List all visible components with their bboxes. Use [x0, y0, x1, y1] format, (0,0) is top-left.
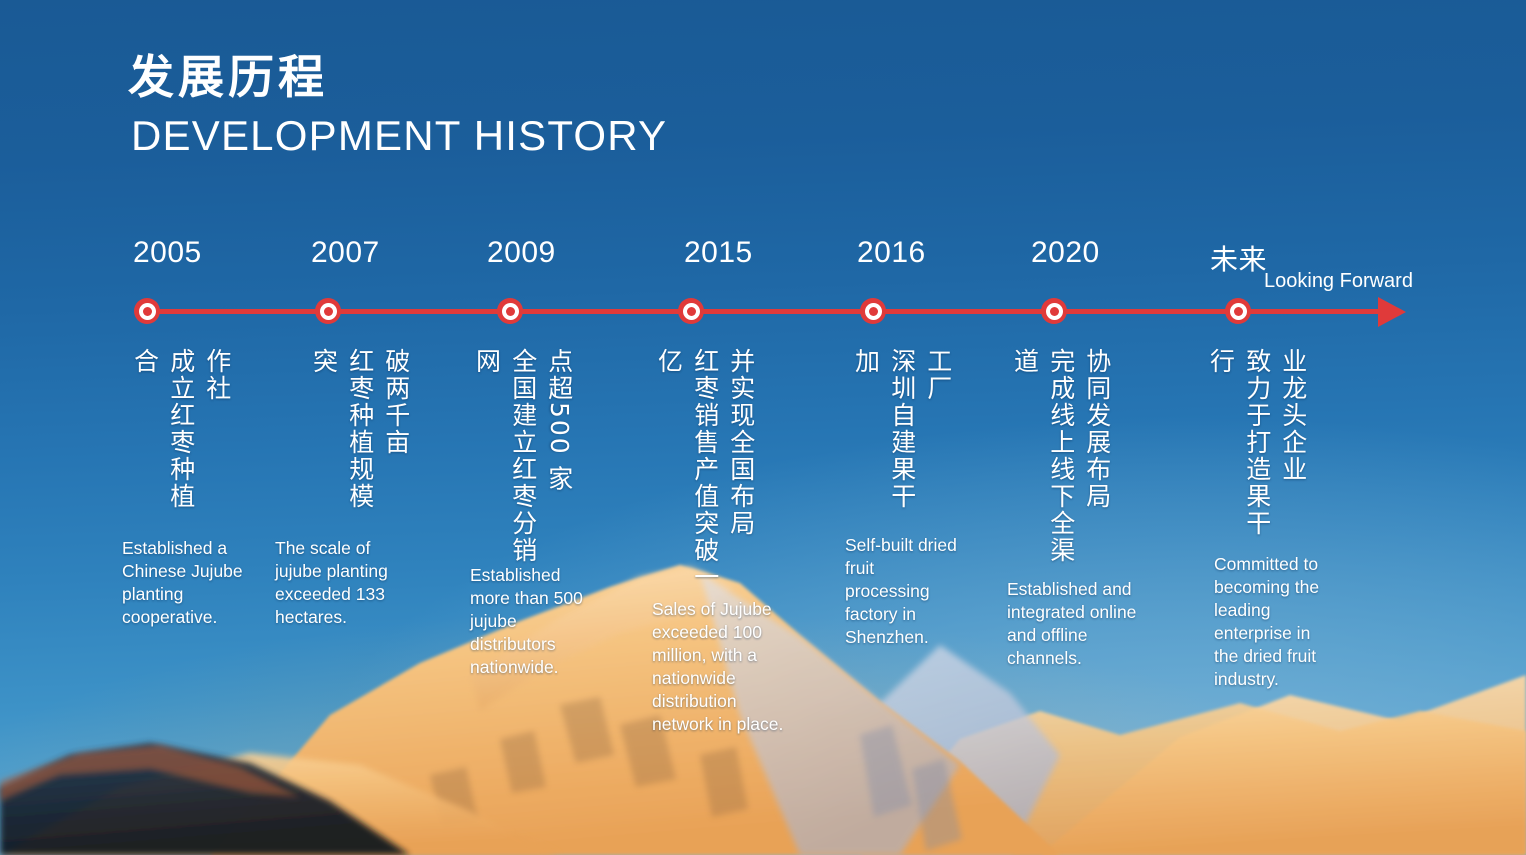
- timeline-node-2016[interactable]: [860, 298, 886, 324]
- timeline-node-future[interactable]: [1225, 298, 1251, 324]
- milestone-desc-2005: Established a Chinese Jujube planting co…: [122, 537, 247, 629]
- milestone-cn-2016: 深圳自建果干加 工厂: [847, 348, 956, 528]
- milestone-cn-col2-2015: 并实现全国布局: [723, 348, 759, 537]
- milestone-cn-col1-2015: 红枣销售产值突破一亿: [650, 348, 723, 594]
- timeline-node-2015[interactable]: [678, 298, 704, 324]
- timeline-node-2005[interactable]: [134, 298, 160, 324]
- milestone-cn-col1-2016: 深圳自建果干加: [847, 348, 920, 528]
- milestone-year-future-sub: Looking Forward: [1264, 270, 1413, 293]
- milestone-cn-2015: 红枣销售产值突破一亿 并实现全国布局: [650, 348, 759, 594]
- milestone-cn-col2-2016: 工厂: [920, 348, 956, 402]
- milestone-cn-col2-future: 业龙头企业: [1275, 348, 1311, 483]
- milestone-cn-2007: 红枣种植规模突 破两千亩: [305, 348, 414, 528]
- milestone-cn-col2-2009: 点超500 家: [541, 348, 577, 493]
- timeline-node-2020[interactable]: [1041, 298, 1067, 324]
- milestone-cn-col1-2009: 全国建立红枣分销网: [468, 348, 541, 566]
- milestone-desc-2016: Self-built dried fruit processing factor…: [845, 534, 960, 649]
- milestone-cn-2005: 成立红枣种植合 作社: [126, 348, 235, 528]
- milestone-year-2015: 2015: [684, 236, 753, 270]
- timeline-arrow-icon: [1378, 297, 1406, 327]
- milestone-year-2020: 2020: [1031, 236, 1100, 270]
- milestone-cn-2020: 完成线上线下全渠道 协同发展布局: [1006, 348, 1115, 566]
- milestone-desc-2009: Established more than 500 jujube distrib…: [470, 564, 596, 679]
- milestone-desc-2020: Established and integrated online and of…: [1007, 578, 1159, 670]
- slide-canvas: 发展历程 DEVELOPMENT HISTORY 2005 成立红枣种植合 作社…: [0, 0, 1526, 855]
- milestone-cn-future: 致力于打造果干行 业龙头企业: [1202, 348, 1311, 538]
- page-title-en: DEVELOPMENT HISTORY: [131, 110, 667, 163]
- milestone-year-2005: 2005: [133, 236, 202, 270]
- milestone-cn-2009: 全国建立红枣分销网 点超500 家: [468, 348, 577, 566]
- milestone-cn-col2-2007: 破两千亩: [378, 348, 414, 456]
- header: 发展历程 DEVELOPMENT HISTORY: [128, 52, 667, 162]
- milestone-cn-col1-2020: 完成线上线下全渠道: [1006, 348, 1079, 566]
- milestone-cn-col1-2005: 成立红枣种植合: [126, 348, 199, 528]
- timeline-node-2009[interactable]: [497, 298, 523, 324]
- milestone-year-2009: 2009: [487, 236, 556, 270]
- milestone-year-2007: 2007: [311, 236, 380, 270]
- milestone-desc-future: Committed to becoming the leading enterp…: [1214, 553, 1339, 692]
- timeline-node-2007[interactable]: [315, 298, 341, 324]
- milestone-desc-2015: Sales of Jujube exceeded 100 million, wi…: [652, 598, 789, 737]
- milestone-cn-col1-2007: 红枣种植规模突: [305, 348, 378, 528]
- milestone-cn-col1-future: 致力于打造果干行: [1202, 348, 1275, 538]
- page-title-cn: 发展历程: [128, 52, 667, 104]
- milestone-cn-col2-2020: 协同发展布局: [1079, 348, 1115, 510]
- milestone-cn-col2-2005: 作社: [199, 348, 235, 402]
- milestone-year-future: 未来: [1210, 238, 1267, 278]
- milestone-desc-2007: The scale of jujube planting exceeded 13…: [275, 537, 397, 629]
- milestone-year-2016: 2016: [857, 236, 926, 270]
